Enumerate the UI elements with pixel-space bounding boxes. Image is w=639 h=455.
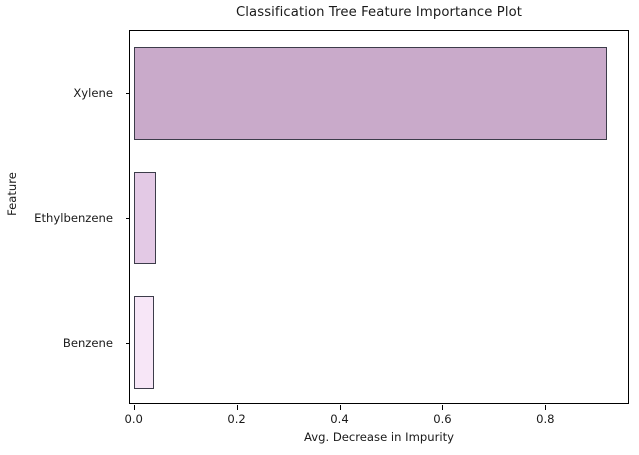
figure-canvas: Classification Tree Feature Importance P… xyxy=(0,0,639,455)
x-axis-label: Avg. Decrease in Impurity xyxy=(129,430,629,444)
y-tick-mark xyxy=(126,218,131,219)
x-tick-label: 0.4 xyxy=(300,412,380,426)
x-tick-label: 0.0 xyxy=(94,412,174,426)
y-tick-mark xyxy=(126,343,131,344)
bar-benzene xyxy=(134,296,154,389)
x-tick-mark xyxy=(442,405,443,410)
y-tick-mark xyxy=(126,93,131,94)
x-tick-mark xyxy=(545,405,546,410)
x-tick-label: 0.8 xyxy=(505,412,585,426)
x-tick-mark xyxy=(340,405,341,410)
x-tick-mark xyxy=(134,405,135,410)
bar-xylene xyxy=(134,47,607,140)
chart-title: Classification Tree Feature Importance P… xyxy=(129,5,629,20)
plot-area: XyleneEthylbenzeneBenzene0.00.20.40.60.8 xyxy=(129,30,629,404)
bar-ethylbenzene xyxy=(134,172,157,265)
y-axis-label: Feature xyxy=(5,94,19,294)
x-tick-label: 0.6 xyxy=(402,412,482,426)
y-tick-label-benzene: Benzene xyxy=(0,336,113,350)
bars-layer xyxy=(130,31,628,403)
x-tick-mark xyxy=(237,405,238,410)
x-tick-label: 0.2 xyxy=(197,412,277,426)
